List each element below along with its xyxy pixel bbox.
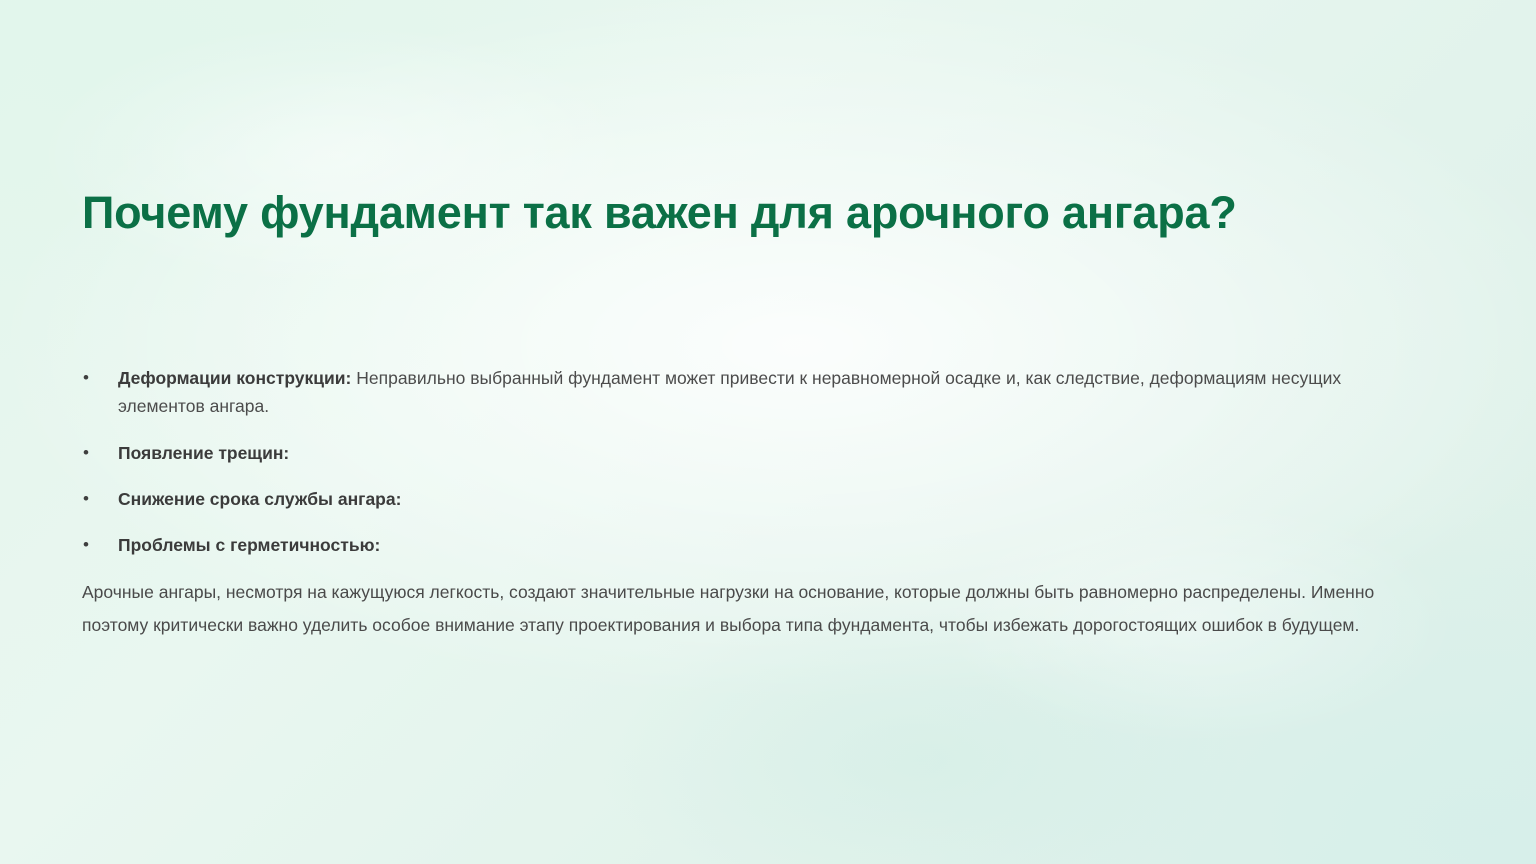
list-item-lead: Появление трещин:: [118, 443, 289, 463]
list-item: • Снижение срока службы ангара:: [82, 485, 1372, 513]
list-item-lead: Проблемы с герметичностью:: [118, 535, 380, 555]
page-title: Почему фундамент так важен для арочного …: [82, 186, 1462, 239]
bullet-list: • Деформации конструкции: Неправильно вы…: [82, 364, 1372, 560]
bullet-marker-icon: •: [83, 439, 99, 467]
bullet-marker-icon: •: [83, 531, 99, 559]
slide-canvas: Почему фундамент так важен для арочного …: [0, 0, 1536, 864]
bullet-marker-icon: •: [83, 364, 99, 392]
list-item: • Появление трещин:: [82, 439, 1372, 467]
closing-paragraph: Арочные ангары, несмотря на кажущуюся ле…: [82, 576, 1398, 642]
list-item-lead: Снижение срока службы ангара:: [118, 489, 401, 509]
list-item: • Деформации конструкции: Неправильно вы…: [82, 364, 1372, 421]
list-item: • Проблемы с герметичностью:: [82, 531, 1372, 559]
bullet-marker-icon: •: [83, 485, 99, 513]
list-item-lead: Деформации конструкции:: [118, 368, 351, 388]
